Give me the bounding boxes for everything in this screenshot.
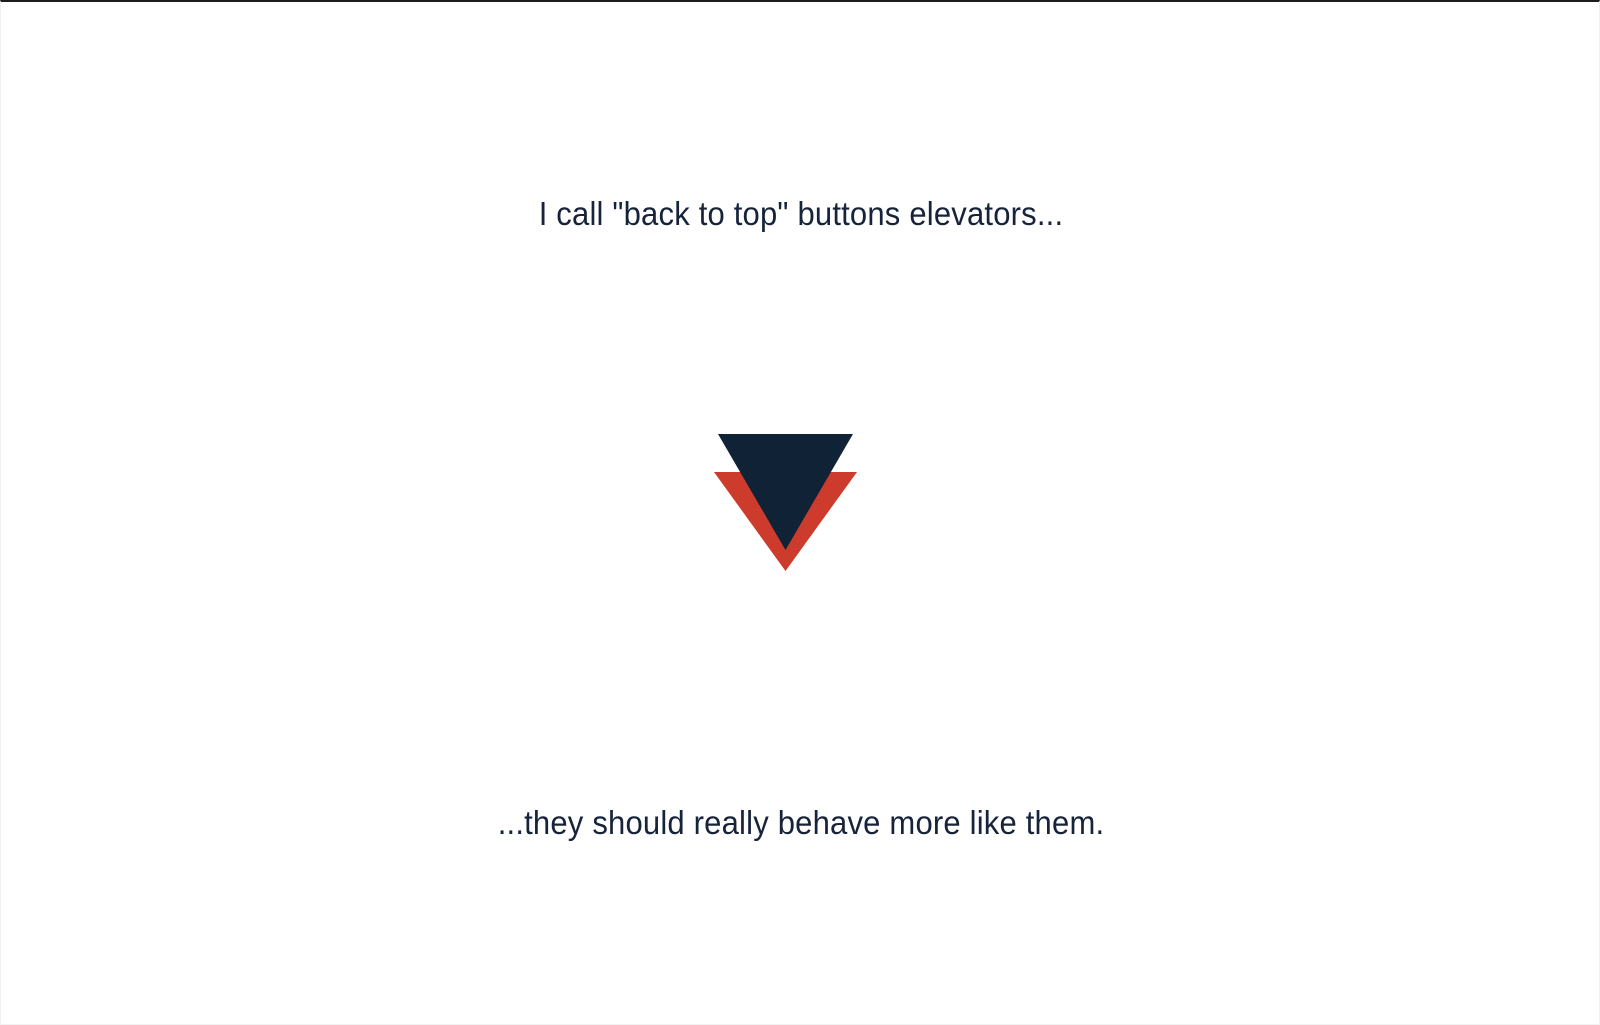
logo-mark — [706, 422, 866, 582]
top-caption-text: I call "back to top" buttons elevators..… — [49, 193, 1553, 234]
logo-svg — [706, 422, 866, 582]
slide-canvas: I call "back to top" buttons elevators..… — [0, 0, 1600, 1025]
bottom-caption-text: ...they should really behave more like t… — [49, 802, 1553, 843]
